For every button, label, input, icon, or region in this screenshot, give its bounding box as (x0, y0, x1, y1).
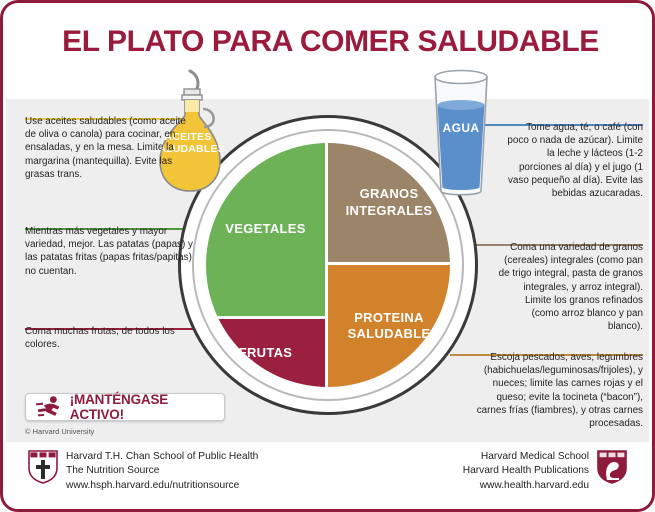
footer-right-block: Harvard Medical School Harvard Health Pu… (463, 450, 627, 493)
protein-label-line2: SALUDABLE (348, 326, 431, 341)
callout-healthy-oils: Use aceites saludables (como aceite de o… (25, 115, 197, 181)
copyright-text: © Harvard University (25, 427, 94, 436)
callout-text-healthy-protein: Escoja pescados, aves, legumbres (habich… (465, 351, 643, 430)
plate-segment-fruits[interactable]: FRUTAS (206, 319, 328, 387)
running-person-icon (34, 396, 64, 418)
footer: Harvard T.H. Chan School of Public Healt… (6, 442, 649, 512)
callout-text-whole-grains: Coma una variedad de granos (cereales) i… (495, 241, 643, 333)
plate-segment-label-fruits: FRUTAS (239, 345, 293, 361)
footer-left-line2: The Nutrition Source (66, 464, 258, 478)
stay-active-button[interactable]: ¡MANTÉNGASE ACTIVO! (25, 393, 225, 421)
callout-text-healthy-oils: Use aceites saludables (como aceite de o… (25, 115, 197, 181)
callout-water: Tome agua, té, o café (con poco o nada d… (503, 121, 643, 200)
footer-left-line3[interactable]: www.hsph.harvard.edu/nutritionsource (66, 479, 258, 493)
plate-segment-label-vegetables: VEGETALES (225, 221, 305, 237)
plate-segments: VEGETALES FRUTAS GRANOS INTEGRALES PROTE… (206, 143, 450, 387)
stay-active-label: ¡MANTÉNGASE ACTIVO! (70, 392, 224, 422)
whole-grains-label-line2: INTEGRALES (346, 203, 433, 218)
callout-fruits: Coma muchas frutas, de todos los colores… (25, 325, 205, 351)
callout-text-vegetables: Mientras más vegetales y mayor variedad,… (25, 225, 197, 278)
footer-left-block: Harvard T.H. Chan School of Public Healt… (28, 450, 258, 493)
water-glass-label: AGUA (427, 121, 495, 135)
water-glass[interactable]: AGUA (427, 69, 495, 199)
plate-segment-label-healthy-protein: PROTEINA SALUDABLE (348, 310, 431, 343)
callout-vegetables: Mientras más vegetales y mayor variedad,… (25, 225, 197, 278)
page-title: EL PLATO PARA COMER SALUDABLE (3, 25, 655, 59)
footer-left-text: Harvard T.H. Chan School of Public Healt… (66, 450, 258, 493)
callout-text-fruits: Coma muchas frutas, de todos los colores… (25, 325, 205, 351)
callout-whole-grains: Coma una variedad de granos (cereales) i… (495, 241, 643, 333)
footer-right-line1: Harvard Medical School (463, 450, 589, 464)
footer-right-text: Harvard Medical School Harvard Health Pu… (463, 450, 589, 493)
healthy-eating-plate-poster: EL PLATO PARA COMER SALUDABLE VEGETALES … (0, 0, 655, 512)
plate-segment-healthy-protein[interactable]: PROTEINA SALUDABLE (328, 265, 450, 387)
callout-text-water: Tome agua, té, o café (con poco o nada d… (503, 121, 643, 200)
footer-right-line2: Harvard Health Publications (463, 464, 589, 478)
harvard-chan-shield-icon (28, 450, 58, 484)
callout-healthy-protein: Escoja pescados, aves, legumbres (habich… (465, 351, 643, 430)
footer-left-line1: Harvard T.H. Chan School of Public Healt… (66, 450, 258, 464)
plate-segment-label-whole-grains: GRANOS INTEGRALES (346, 186, 433, 219)
footer-right-line3[interactable]: www.health.harvard.edu (463, 479, 589, 493)
protein-label-line1: PROTEINA (354, 310, 424, 325)
whole-grains-label-line1: GRANOS (360, 186, 419, 201)
harvard-medical-shield-icon (597, 450, 627, 484)
